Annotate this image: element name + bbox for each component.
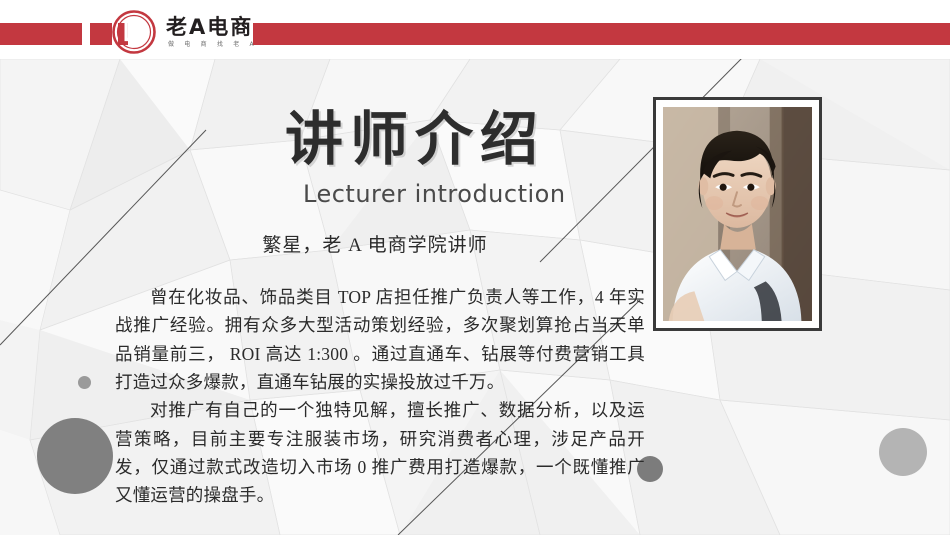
decor-circle-large-left [37,418,113,494]
decor-circle-tiny-left [78,376,91,389]
lecturer-portrait [663,107,812,321]
page-title-zh: 讲师介绍 [285,110,545,168]
bio-paragraph: 曾在化妆品、饰品类目 TOP 店担任推广负责人等工作，4 年实战推广经验。拥有众… [115,283,645,396]
lecturer-photo-matte [656,100,819,328]
lecturer-name-line: 繁星，老 A 电商学院讲师 [140,233,610,260]
slide-canvas: 老A电商 做 电 商 找 老 A 讲师介绍 Lecturer introduct… [0,0,950,535]
brand-logo-text: 老A电商 做 电 商 找 老 A [166,17,258,48]
lecturer-bio: 曾在化妆品、饰品类目 TOP 店担任推广负责人等工作，4 年实战推广经验。拥有众… [115,283,645,510]
brand-tagline: 做 电 商 找 老 A [166,42,258,48]
header-band: 老A电商 做 电 商 找 老 A [0,0,950,59]
page-title-en: Lecturer introduction [303,182,566,206]
brand-name: 老A电商 [166,17,258,38]
bio-paragraph: 对推广有自己的一个独特见解，擅长推广、数据分析，以及运营策略，目前主要专注服装市… [115,396,645,509]
brand-logo: 老A电商 做 电 商 找 老 A [112,10,258,54]
lecturer-photo-frame [653,97,822,331]
portrait-illustration [663,107,812,321]
header-bar-left [0,23,82,45]
header-bar-right [253,23,950,45]
header-bar-block-1 [90,23,112,45]
la-monogram-circle-icon [112,10,156,54]
decor-circle-medium-right [879,428,927,476]
